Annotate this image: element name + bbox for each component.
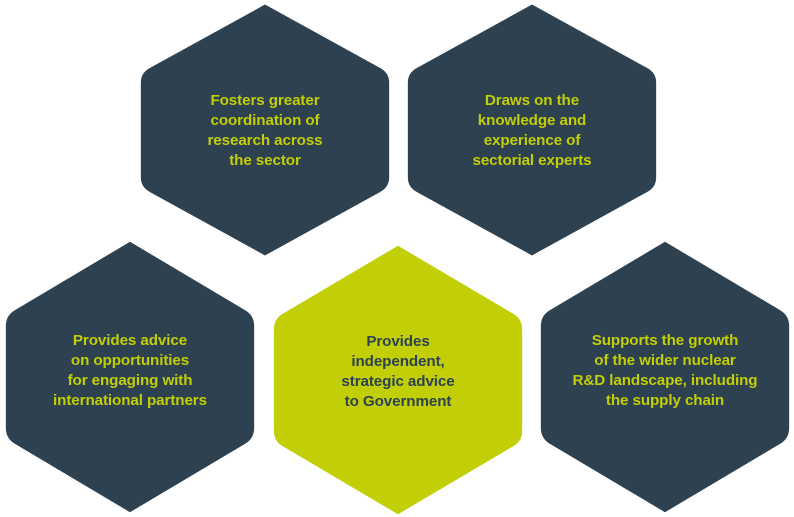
hexagon-shape-icon [537,239,793,515]
hexagon-supply-chain[interactable]: Supports the growth of the wider nuclear… [537,239,793,515]
hexagon-government-advice[interactable]: Provides independent, strategic advice t… [270,243,526,517]
hexagon-shape-icon [137,2,393,258]
hexagon-diagram: Fosters greater coordination of research… [0,0,794,517]
hexagon-shape-icon [404,2,660,258]
hexagon-knowledge[interactable]: Draws on the knowledge and experience of… [404,2,660,258]
hexagon-shape-icon [2,239,258,515]
hexagon-coordination[interactable]: Fosters greater coordination of research… [137,2,393,258]
hexagon-shape-icon [270,243,526,517]
hexagon-international-partners[interactable]: Provides advice on opportunities for eng… [2,239,258,515]
